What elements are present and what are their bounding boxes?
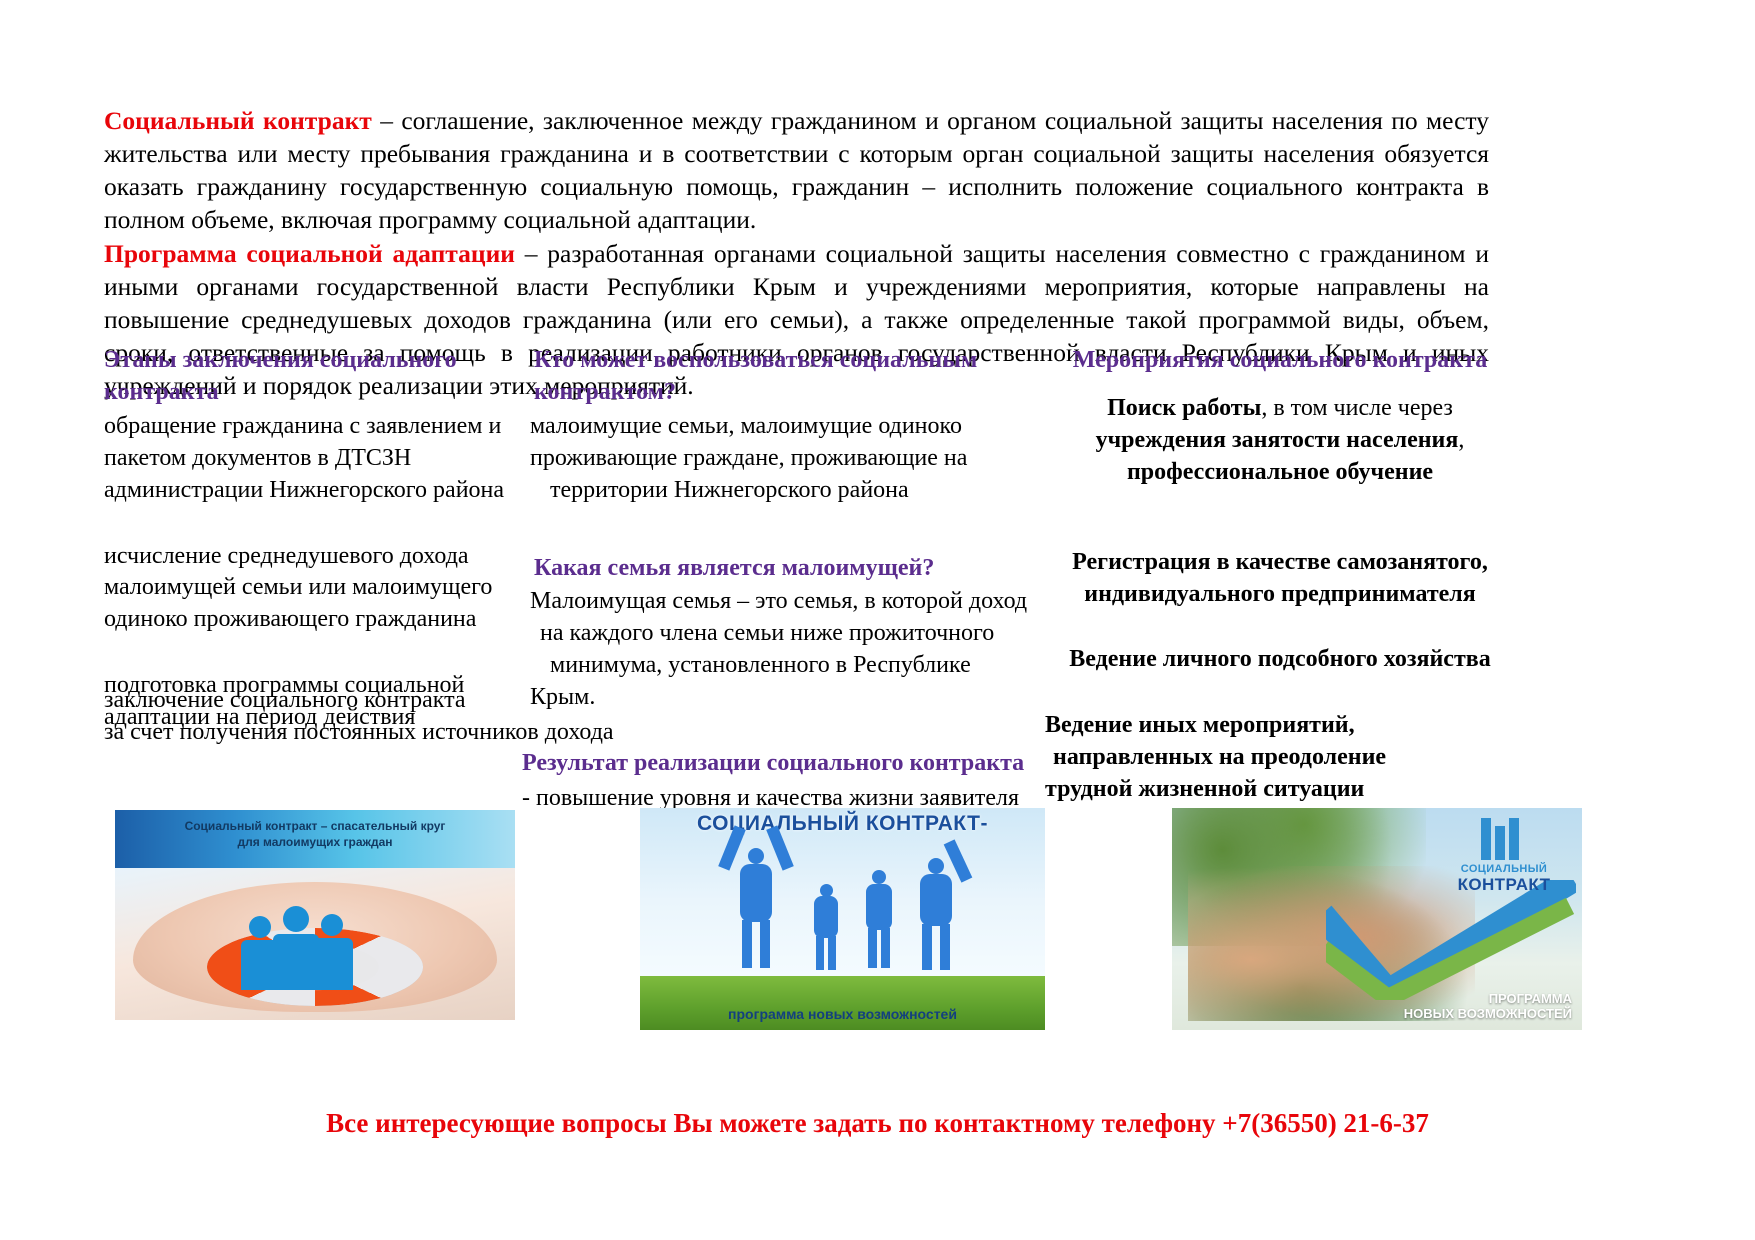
measure-item-4-line-3: трудной жизненной ситуации xyxy=(1045,774,1515,806)
stage-item-2: исчисление среднедушевого дохода малоиму… xyxy=(104,541,534,637)
measure-item-4-line-1: Ведение иных мероприятий, xyxy=(1045,710,1515,742)
intro-lead-social-contract: Социальный контракт xyxy=(104,106,372,135)
poster-family-farm-logo: СОЦИАЛЬНЫЙ КОНТРАКТ xyxy=(1438,818,1570,893)
poster-lifebuoy-caption: Социальный контракт – спасательный круг … xyxy=(115,818,515,850)
measure-1-part-4: , xyxy=(1458,427,1464,453)
person-head-icon xyxy=(283,906,309,932)
silhouette-leg xyxy=(881,928,890,968)
silhouette-body xyxy=(866,884,892,930)
measure-item-1: Поиск работы, в том числе через учрежден… xyxy=(1045,393,1515,489)
poster-lifebuoy: Социальный контракт – спасательный круг … xyxy=(115,810,515,1020)
column-measures: Мероприятия социального контракта Поиск … xyxy=(1045,345,1515,806)
column-stages: Этапы заключения социального контракта о… xyxy=(104,345,534,734)
measure-1-part-5: профессиональное обучение xyxy=(1127,459,1433,485)
measure-item-3: Ведение личного подсобного хозяйства xyxy=(1045,644,1515,676)
person-body-icon xyxy=(313,938,353,990)
spacer xyxy=(1045,379,1515,393)
checkmark-icon xyxy=(1326,880,1576,1000)
spacer xyxy=(104,507,534,541)
document-page: Социальный контракт – соглашение, заключ… xyxy=(0,0,1755,1240)
poor-family-line-1: Малоимущая семья – это семья, в которой … xyxy=(520,586,1040,618)
silhouette-body xyxy=(814,896,838,938)
poster-jumping-family: СОЦИАЛЬНЫЙ КОНТРАКТ- программа новых воз… xyxy=(640,808,1045,1030)
column1-heading: Этапы заключения социального контракта xyxy=(104,345,534,409)
poster-family-farm-tagline: ПРОГРАММА НОВЫХ ВОЗМОЖНОСТЕЙ xyxy=(1404,991,1572,1022)
poster-lifebuoy-caption-line-1: Социальный контракт – спасательный круг xyxy=(115,818,515,834)
intro-paragraph-1: Социальный контракт – соглашение, заключ… xyxy=(104,104,1489,237)
logo-mark-icon xyxy=(1481,818,1527,860)
stage-item-4: заключение социального контракта xyxy=(104,685,534,717)
contact-footer: Все интересующие вопросы Вы можете задат… xyxy=(0,1108,1755,1139)
silhouette-body xyxy=(920,874,952,926)
poor-family-line-3: минимума, установленного в Республике xyxy=(520,650,1040,682)
tagline-line-1: ПРОГРАММА xyxy=(1404,991,1572,1007)
silhouette-body xyxy=(740,864,772,922)
measure-1-part-3: учреждения занятости населения xyxy=(1096,427,1459,453)
poster-jumping-family-title: СОЦИАЛЬНЫЙ КОНТРАКТ- xyxy=(640,812,1045,836)
poster-jumping-family-inner: СОЦИАЛЬНЫЙ КОНТРАКТ- программа новых воз… xyxy=(640,808,1045,1030)
spacer xyxy=(520,507,1040,553)
intro-lead-adaptation-program: Программа социальной адаптации xyxy=(104,239,515,268)
measure-1-part-1: Поиск работы xyxy=(1107,395,1261,421)
silhouette-leg xyxy=(742,920,752,968)
silhouette-leg xyxy=(868,928,877,968)
column2-heading-result: Результат реализации социального контрак… xyxy=(522,748,1042,780)
stage-item-1: обращение гражданина с заявлением и паке… xyxy=(104,411,534,507)
poor-family-line-4: Крым. xyxy=(520,682,1040,714)
silhouette-leg xyxy=(760,920,770,968)
logo-line-2: КОНТРАКТ xyxy=(1438,876,1570,894)
person-body-icon xyxy=(241,940,279,990)
logo-line-1: СОЦИАЛЬНЫЙ xyxy=(1438,864,1570,876)
poster-lifebuoy-caption-line-2: для малоимущих граждан xyxy=(115,834,515,850)
poster-lifebuoy-inner: Социальный контракт – спасательный круг … xyxy=(115,810,515,1020)
poster-family-farm-inner: СОЦИАЛЬНЫЙ КОНТРАКТ ПРОГРАММА НОВЫХ ВОЗМ… xyxy=(1172,808,1582,1030)
poster-jumping-family-subtitle: программа новых возможностей xyxy=(640,1006,1045,1022)
column3-heading: Мероприятия социального контракта xyxy=(1045,345,1515,377)
measure-1-part-2: , в том числе через xyxy=(1261,395,1453,421)
poor-family-line-2: на каждого члена семьи ниже прожиточного xyxy=(520,618,1040,650)
column-eligibility: Кто может воспользоваться социальным кон… xyxy=(520,345,1040,714)
silhouette-head xyxy=(748,848,764,864)
spacer xyxy=(1045,610,1515,644)
silhouette-leg xyxy=(816,936,824,970)
eligibility-line-3: территории Нижнегорского района xyxy=(520,475,1040,507)
silhouette-head xyxy=(928,858,944,874)
poster-family-farm: СОЦИАЛЬНЫЙ КОНТРАКТ ПРОГРАММА НОВЫХ ВОЗМ… xyxy=(1172,808,1582,1030)
eligibility-line-1: малоимущие семьи, малоимущие одиноко xyxy=(520,411,1040,443)
column2-heading-poor-family: Какая семья является малоимущей? xyxy=(520,553,1040,585)
spacer xyxy=(104,636,534,670)
spacer xyxy=(1045,489,1515,547)
silhouette-leg xyxy=(828,936,836,970)
eligibility-line-2: проживающие граждане, проживающие на xyxy=(520,443,1040,475)
measure-item-2-line-1: Регистрация в качестве самозанятого, xyxy=(1045,547,1515,579)
measure-item-2-line-2: индивидуального предпринимателя xyxy=(1045,579,1515,611)
person-head-icon xyxy=(249,916,271,938)
stage-item-5: за счет получения постоянных источников … xyxy=(104,717,664,749)
silhouette-leg xyxy=(922,924,932,970)
person-head-icon xyxy=(321,914,343,936)
column2-heading-who: Кто может воспользоваться социальным кон… xyxy=(520,345,1040,409)
measure-item-4-line-2: направленных на преодоление xyxy=(1045,742,1515,774)
silhouette-head xyxy=(872,870,886,884)
tagline-line-2: НОВЫХ ВОЗМОЖНОСТЕЙ xyxy=(1404,1006,1572,1022)
silhouette-leg xyxy=(940,924,950,970)
spacer xyxy=(1045,676,1515,710)
